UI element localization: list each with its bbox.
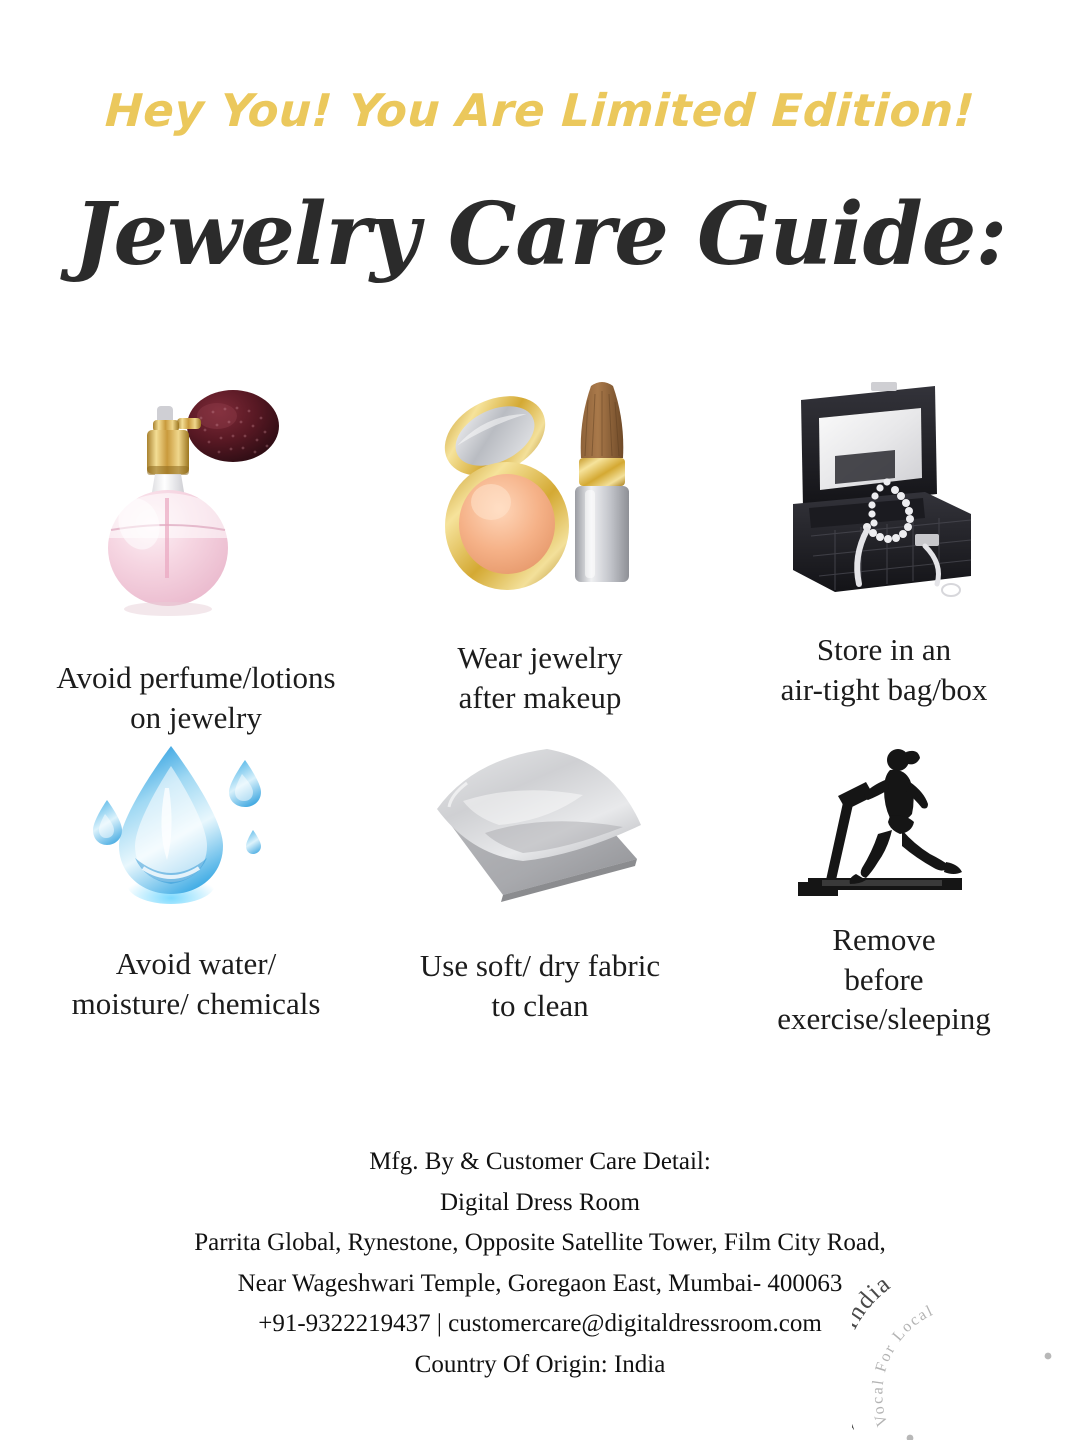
care-tip-caption: Avoid perfume/lotions on jewelry xyxy=(56,658,335,737)
care-tip-caption: Use soft/ dry fabric to clean xyxy=(420,946,660,1025)
care-tip-caption: Remove before exercise/sleeping xyxy=(777,920,990,1039)
treadmill-runner-figure xyxy=(792,738,976,904)
jewelry-box-icon xyxy=(775,378,993,600)
care-tip-avoid-water: Avoid water/ moisture/ chemicals xyxy=(24,738,368,1038)
badge-dot-right xyxy=(1045,1353,1052,1360)
care-tip-wear-after-makeup: Wear jewelry after makeup xyxy=(368,378,712,738)
tagline: Hey You! You Are Limited Edition! xyxy=(0,84,1080,137)
page-title: Jewelry Care Guide: xyxy=(0,192,1080,278)
care-tip-use-soft-fabric: Use soft/ dry fabric to clean xyxy=(368,738,712,1038)
care-tip-store-airtight: Store in an air-tight bag/box xyxy=(712,378,1056,738)
perfume-bottle-icon xyxy=(81,378,311,628)
cleaning-cloth-icon xyxy=(427,739,653,907)
water-droplet-icon xyxy=(87,738,305,908)
footer-line-mfg: Mfg. By & Customer Care Detail: xyxy=(0,1142,1080,1183)
care-tip-caption: Avoid water/ moisture/ chemicals xyxy=(72,944,321,1023)
footer-line-company: Digital Dress Room xyxy=(0,1183,1080,1224)
care-tip-remove-before-exercise: Remove before exercise/sleeping xyxy=(712,738,1056,1038)
makeup-figure xyxy=(433,378,648,606)
care-tips-grid: Avoid perfume/lotions on jewelry xyxy=(24,378,1056,1038)
jewelry-box-figure xyxy=(775,378,993,600)
treadmill-runner-icon xyxy=(792,738,976,904)
care-tip-caption: Store in an air-tight bag/box xyxy=(781,630,988,709)
made-in-india-badge: Made In India Vocal For Local xyxy=(852,1252,1067,1440)
care-tip-avoid-perfume: Avoid perfume/lotions on jewelry xyxy=(24,378,368,738)
badge-dot-left xyxy=(907,1435,914,1440)
water-droplet-figure xyxy=(87,738,305,908)
perfume-bottle-figure xyxy=(81,378,311,628)
care-tip-caption: Wear jewelry after makeup xyxy=(457,638,622,717)
makeup-compact-brush-icon xyxy=(433,378,648,606)
cleaning-cloth-figure xyxy=(427,738,653,908)
jewelry-care-guide-page: Hey You! You Are Limited Edition! Jewelr… xyxy=(0,0,1080,1440)
badge-inner-label: Vocal For Local xyxy=(869,1302,937,1429)
